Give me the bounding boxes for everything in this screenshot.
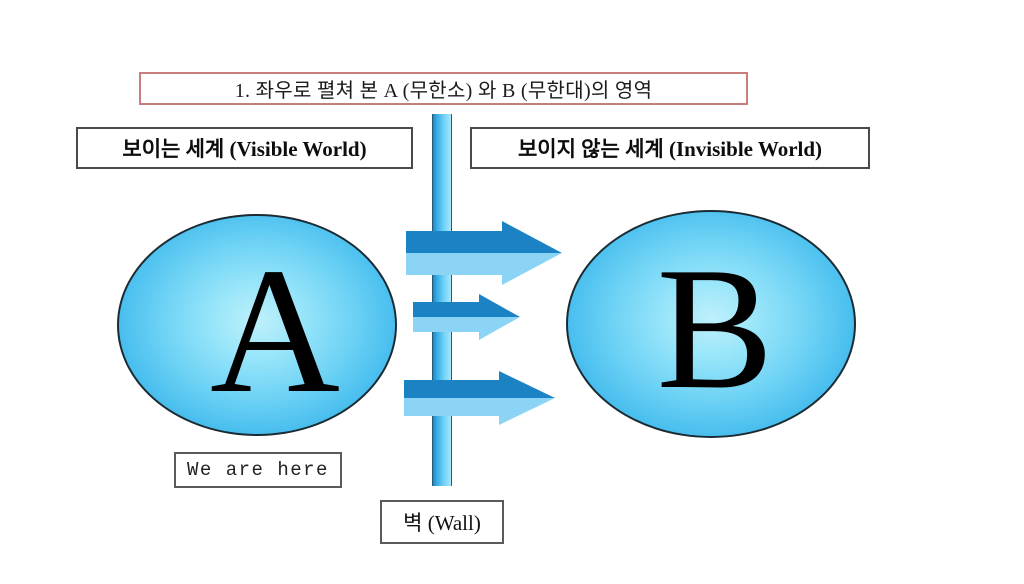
- ellipse-a: A: [117, 214, 397, 436]
- ellipse-b-letter: B: [657, 241, 774, 416]
- arrow-bottom-upper-half: [404, 371, 555, 398]
- arrow-top-upper-half: [406, 221, 562, 253]
- arrow-top: [406, 221, 562, 285]
- we-are-here-box: We are here: [174, 452, 342, 488]
- arrow-middle: [413, 294, 520, 340]
- arrow-bottom: [404, 371, 555, 425]
- arrow-middle-upper-half: [413, 294, 520, 317]
- wall-label-text: 벽 (Wall): [403, 507, 481, 537]
- diagram-title-text: 1. 좌우로 펼쳐 본 A (무한소) 와 B (무한대)의 영역: [235, 74, 653, 103]
- visible-world-label-box: 보이는 세계 (Visible World): [76, 127, 413, 169]
- diagram-title-box: 1. 좌우로 펼쳐 본 A (무한소) 와 B (무한대)의 영역: [139, 72, 748, 105]
- arrow-top-lower-half: [406, 253, 562, 285]
- arrow-middle-lower-half: [413, 317, 520, 340]
- arrow-bottom-lower-half: [404, 398, 555, 425]
- diagram-canvas: 1. 좌우로 펼쳐 본 A (무한소) 와 B (무한대)의 영역 보이는 세계…: [0, 0, 1024, 584]
- ellipse-a-letter: A: [210, 241, 340, 421]
- ellipse-b: B: [566, 210, 856, 438]
- invisible-world-label-text: 보이지 않는 세계 (Invisible World): [518, 133, 822, 163]
- we-are-here-text: We are here: [187, 459, 329, 481]
- wall-label-box: 벽 (Wall): [380, 500, 504, 544]
- invisible-world-label-box: 보이지 않는 세계 (Invisible World): [470, 127, 870, 169]
- visible-world-label-text: 보이는 세계 (Visible World): [122, 133, 366, 163]
